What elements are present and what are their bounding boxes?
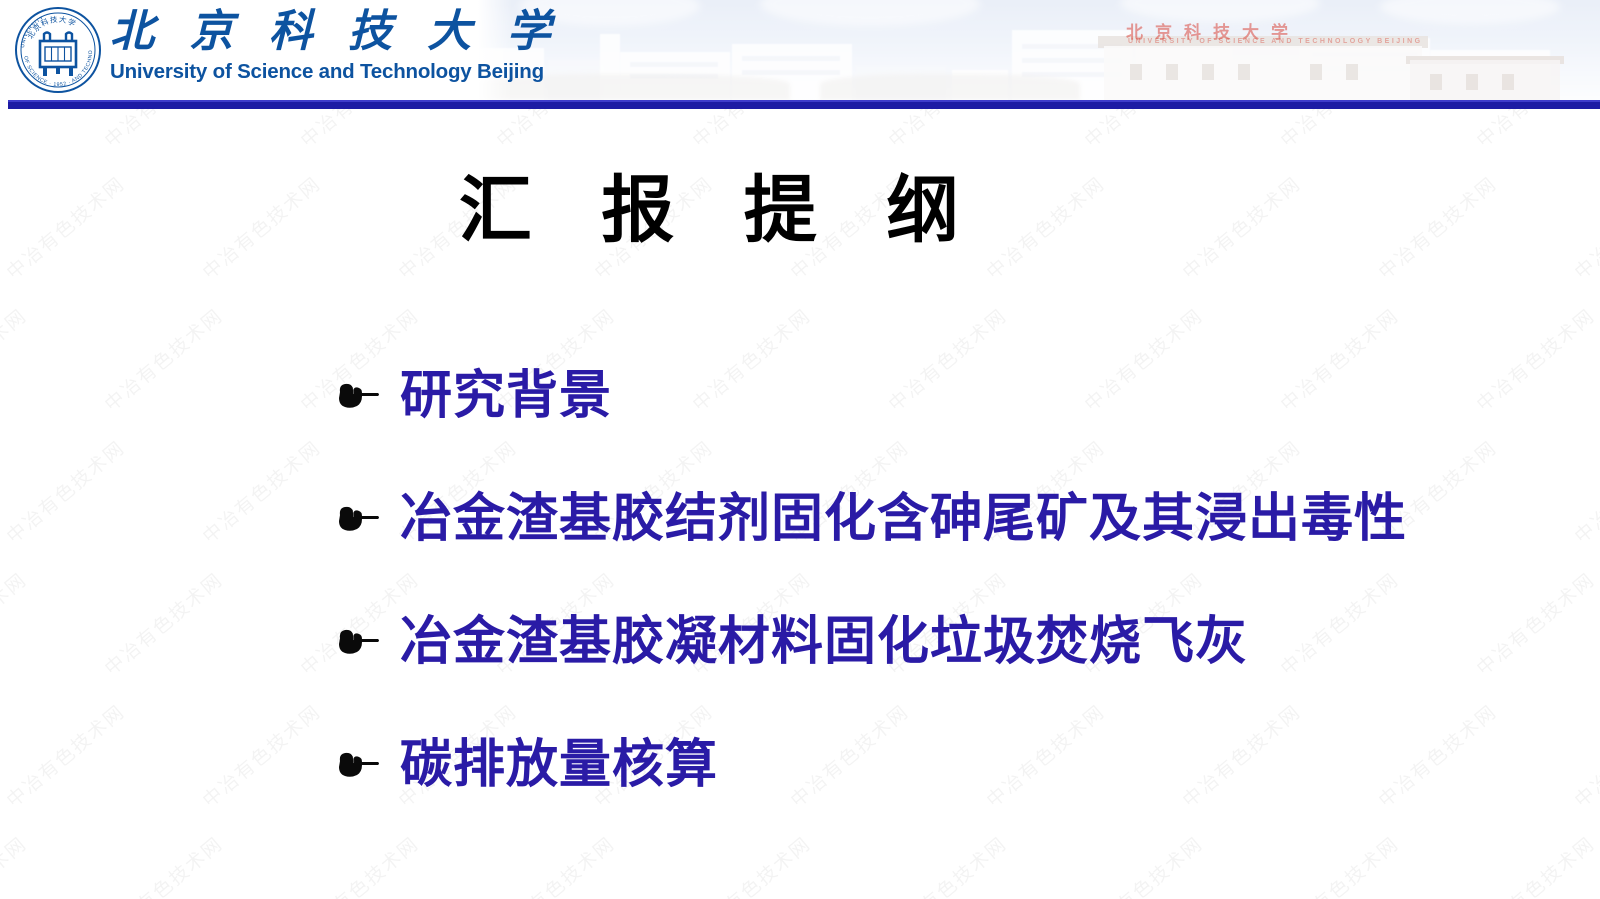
gate-body	[1104, 46, 1422, 100]
list-item[interactable]: 冶金渣基胶结剂固化含砷尾矿及其浸出毒性	[332, 481, 1407, 557]
gate-window	[1430, 74, 1442, 90]
watermark-text: 中冶有色技术网	[1470, 302, 1600, 417]
watermark-text: 中冶有色技术网	[98, 566, 228, 681]
ustb-seal-logo: 北京科技大学 UNIVERSITY OF SCIENCE · 1952 · AN…	[14, 6, 102, 94]
watermark-text: 中冶有色技术网	[98, 302, 228, 417]
watermark-text: 中冶有色技术网	[294, 830, 424, 899]
page-title: 汇 报 提 纲	[0, 168, 1440, 254]
university-name-cn: 北 京 科 技 大 学	[110, 6, 472, 58]
watermark-text: 中冶有色技术网	[196, 434, 326, 549]
university-wordmark: 北 京 科 技 大 学 University of Science and Te…	[110, 6, 472, 84]
header-divider-highlight	[8, 100, 1600, 102]
gate-window	[1466, 74, 1478, 90]
list-item[interactable]: 碳排放量核算	[332, 727, 1407, 803]
list-item[interactable]: 冶金渣基胶凝材料固化垃圾焚烧飞灰	[332, 604, 1407, 680]
gate-window	[1346, 64, 1358, 80]
watermark-text: 中冶有色技术网	[0, 302, 32, 417]
pointing-hand-icon	[332, 743, 380, 787]
watermark-text: 中冶有色技术网	[686, 830, 816, 899]
university-name-en: University of Science and Technology Bei…	[110, 60, 472, 84]
outline-item-label: 冶金渣基胶凝材料固化垃圾焚烧飞灰	[400, 610, 1248, 674]
watermark-text: 中冶有色技术网	[490, 830, 620, 899]
watermark-text: 中冶有色技术网	[0, 698, 130, 813]
pointing-hand-icon	[332, 497, 380, 541]
outline-list: 研究背景 冶金渣基胶结剂固化含砷尾矿及其浸出毒性 冶金渣基胶凝材料固化垃圾焚烧飞…	[332, 358, 1407, 803]
presentation-slide: 北京科技大学 UNIVERSITY OF SCIENCE AND TECHNOL…	[0, 0, 1600, 899]
watermark-text: 中冶有色技术网	[1470, 566, 1600, 681]
watermark-text: 中冶有色技术网	[882, 830, 1012, 899]
pointing-hand-icon	[332, 620, 380, 664]
gate-window	[1166, 64, 1178, 80]
watermark-text: 中冶有色技术网	[1078, 830, 1208, 899]
gate-window	[1310, 64, 1322, 80]
watermark-text: 中冶有色技术网	[1470, 830, 1600, 899]
watermark-text: 中冶有色技术网	[98, 830, 228, 899]
outline-item-label: 研究背景	[400, 364, 612, 428]
list-item[interactable]: 研究背景	[332, 358, 1407, 434]
gate-window	[1238, 64, 1250, 80]
outline-item-label: 碳排放量核算	[400, 733, 718, 797]
gate-window	[1202, 64, 1214, 80]
gate-sign-english: UNIVERSITY OF SCIENCE AND TECHNOLOGY BEI…	[1128, 38, 1423, 45]
campus-gate-building: 北京科技大学 UNIVERSITY OF SCIENCE AND TECHNOL…	[1070, 16, 1540, 100]
gate-window	[1130, 64, 1142, 80]
watermark-text: 中冶有色技术网	[0, 830, 32, 899]
watermark-text: 中冶有色技术网	[1274, 830, 1404, 899]
watermark-text: 中冶有色技术网	[1568, 434, 1600, 549]
pointing-hand-icon	[332, 374, 380, 418]
watermark-text: 中冶有色技术网	[0, 434, 130, 549]
slide-header-banner: 北京科技大学 UNIVERSITY OF SCIENCE AND TECHNOL…	[0, 0, 1600, 100]
watermark-text: 中冶有色技术网	[196, 698, 326, 813]
watermark-text: 中冶有色技术网	[1568, 698, 1600, 813]
outline-item-label: 冶金渣基胶结剂固化含砷尾矿及其浸出毒性	[400, 487, 1407, 551]
watermark-text: 中冶有色技术网	[0, 566, 32, 681]
watermark-text: 中冶有色技术网	[1568, 170, 1600, 285]
gate-window	[1502, 74, 1514, 90]
